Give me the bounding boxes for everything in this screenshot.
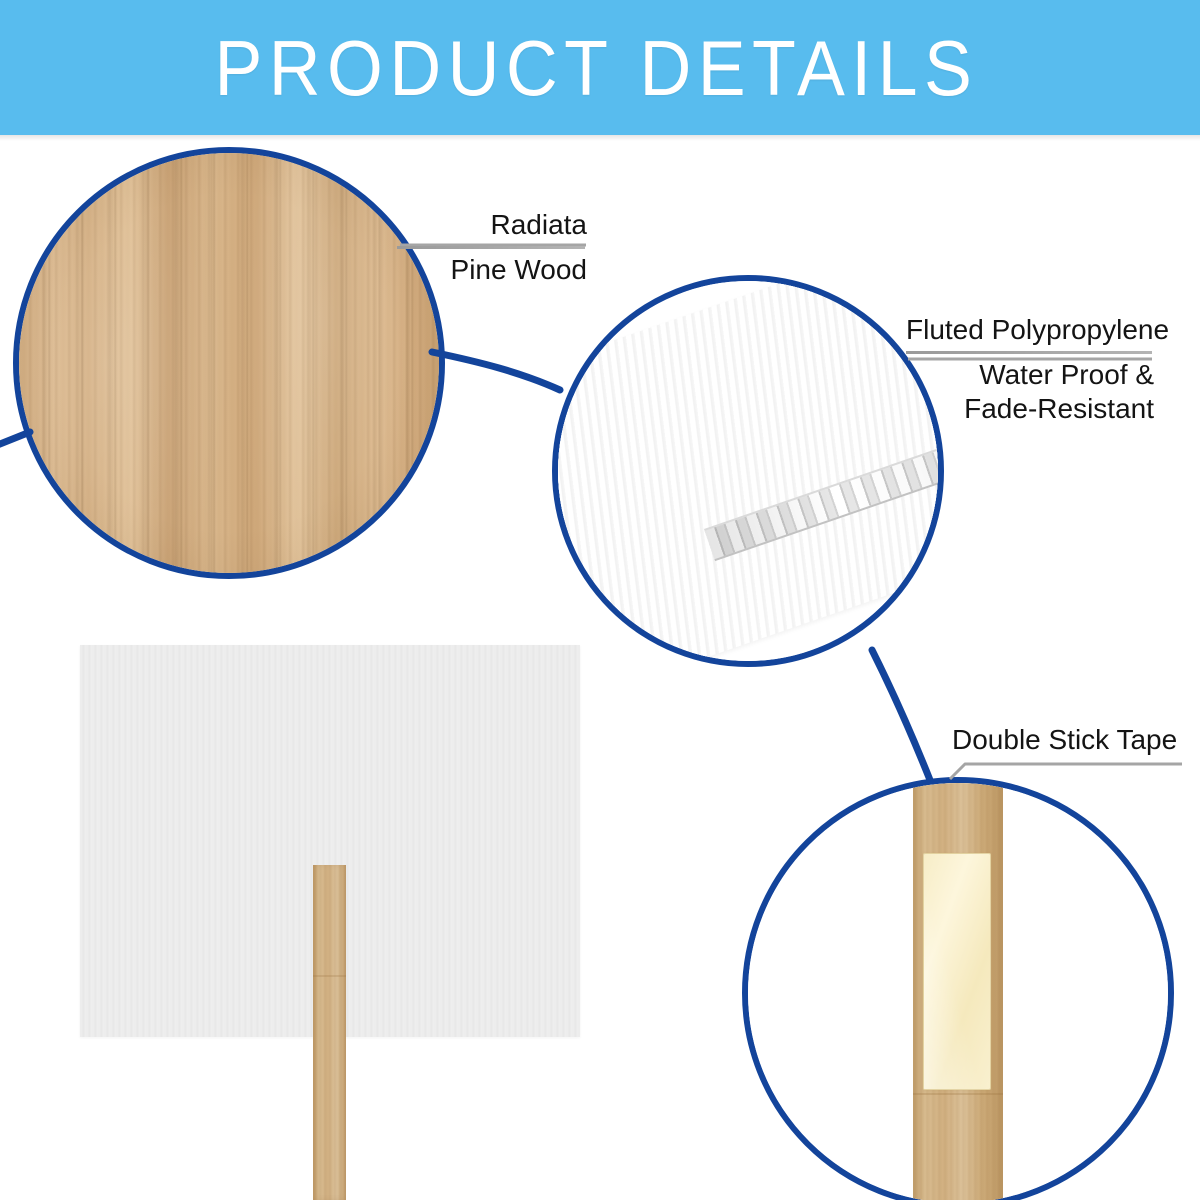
page-title: PRODUCT DETAILS — [215, 29, 985, 107]
label-wood-primary: Radiata — [397, 208, 587, 242]
double-stick-tape-icon — [748, 783, 1168, 1200]
connector-wood-to-polypropylene — [432, 352, 560, 390]
callout-circle-tape[interactable] — [742, 777, 1174, 1200]
connector-polypropylene-to-tape — [872, 650, 930, 780]
product-stake — [313, 865, 346, 1200]
header-banner: PRODUCT DETAILS — [0, 0, 1200, 135]
tape-stake-seam — [913, 1093, 1003, 1095]
label-polypropylene: Fluted Polypropylene Water Proof & Fade-… — [906, 313, 1154, 426]
callout-circle-wood[interactable] — [13, 147, 445, 579]
label-wood: Radiata Pine Wood — [397, 208, 587, 287]
label-wood-secondary: Pine Wood — [397, 253, 587, 287]
label-tape: Double Stick Tape — [952, 723, 1182, 757]
leader-line-tape — [950, 764, 1182, 779]
label-wood-rule — [397, 246, 585, 249]
label-polypropylene-primary: Fluted Polypropylene — [906, 313, 1154, 347]
stake-seam — [313, 975, 346, 977]
label-tape-primary: Double Stick Tape — [952, 723, 1182, 757]
label-polypropylene-secondary-line1: Water Proof & — [906, 358, 1154, 392]
callout-circle-polypropylene[interactable] — [552, 275, 944, 667]
wood-grain-icon — [15, 149, 443, 577]
fluted-plastic-sheet-icon — [554, 277, 942, 665]
label-polypropylene-rule — [906, 351, 1152, 354]
product-details-infographic: PRODUCT DETAILS — [0, 0, 1200, 1200]
label-polypropylene-secondary-line2: Fade-Resistant — [906, 392, 1154, 426]
tape-strip — [923, 853, 991, 1090]
